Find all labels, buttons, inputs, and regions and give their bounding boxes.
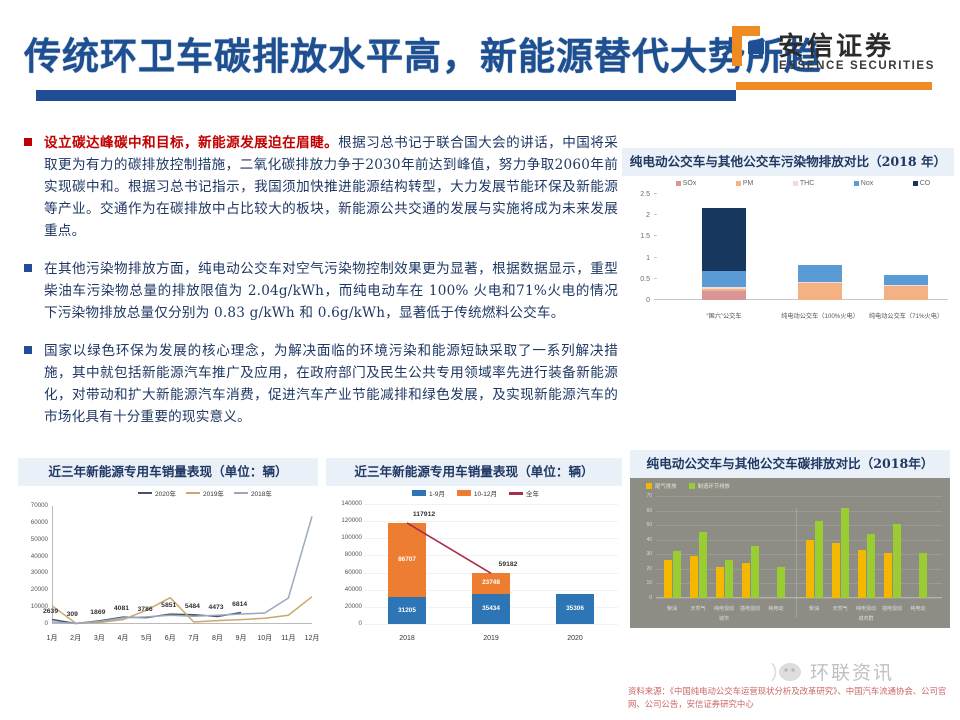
chart-y-tick-label: 30	[636, 551, 652, 557]
chart-y-tick	[654, 278, 657, 279]
chart-plot-area: SOxPMTHCNoxCO00.511.522.5“国六”公交车纯电动公交车（1…	[622, 176, 954, 326]
chart-bar	[884, 275, 928, 300]
chart-legend-item: Nox	[854, 180, 873, 187]
chart-bar-segment	[798, 265, 842, 282]
chart-x-tick-label: 6月	[159, 633, 181, 643]
chart-x-tick-label: 1月	[41, 633, 63, 643]
chart-title: 纯电动公交车与其他公交车污染物排放对比（2018 年）	[622, 148, 954, 176]
watermark-text: 环联资讯	[810, 658, 894, 685]
chart-bar	[664, 560, 672, 598]
chart-x-tick-label: 纯电动	[904, 605, 932, 612]
legend-swatch	[793, 181, 798, 186]
slide-root: 传统环卫车碳排放水平高，新能源替代大势所趋 安信证券 ESSENCE SECUR…	[0, 0, 960, 720]
bullet-paragraph: 在其他污染物排放方面，纯电动公交车对空气污染物控制效果更为显著，根据数据显示，重…	[44, 258, 618, 324]
chart-legend-item: PM	[736, 180, 754, 187]
chart-x-tick-label: 9月	[230, 633, 252, 643]
chart-total-line	[326, 486, 622, 646]
chart-x-tick-label: 天然气	[826, 605, 854, 612]
chart-data-label: 2639	[43, 608, 58, 615]
chart-x-tick-label: 插电混动	[878, 605, 906, 612]
chart-gridline	[656, 511, 942, 512]
bullet-paragraph: 国家以绿色环保为发展的核心理念，为解决面临的环境污染和能源短缺采取了一系列解决措…	[44, 340, 618, 428]
chart-x-tick-label: 7月	[183, 633, 205, 643]
legend-swatch	[854, 181, 859, 186]
chart-lines	[18, 486, 318, 646]
chart-legend-item: 制造环节排放	[689, 482, 730, 490]
slide-header: 传统环卫车碳排放水平高，新能源替代大势所趋 安信证券 ESSENCE SECUR…	[0, 22, 960, 90]
chart-gridline	[656, 496, 942, 497]
chart-y-tick-label: 60	[636, 508, 652, 514]
bullet-marker-icon	[24, 264, 32, 272]
chart-y-tick	[654, 235, 657, 236]
chart-group-label: 城市群	[846, 615, 886, 622]
chart-bar	[893, 524, 901, 598]
chart-legend-item: CO	[913, 180, 931, 187]
chart-data-label: 309	[67, 611, 78, 618]
chart-y-tick	[654, 214, 657, 215]
chart-data-label: 4081	[114, 605, 129, 612]
chart-x-tick-label: 柴油	[800, 605, 828, 612]
legend-label: SOx	[683, 180, 697, 187]
chart-bar-segment	[702, 271, 746, 287]
logo-name-cn: 安信证券	[778, 26, 894, 63]
chart-bar	[858, 550, 866, 598]
brand-logo: 安信证券 ESSENCE SECURITIES	[726, 22, 946, 88]
chart-bar	[806, 540, 814, 598]
legend-swatch	[689, 483, 695, 489]
chart-card-pollutant-comparison: 纯电动公交车与其他公交车污染物排放对比（2018 年） SOxPMTHCNoxC…	[622, 148, 954, 348]
chart-y-tick-label: 1	[628, 255, 650, 262]
chart-bar-segment	[884, 286, 928, 300]
chart-bar	[919, 553, 927, 598]
chart-x-tick-label: 天然气	[684, 605, 712, 612]
chart-y-tick-label: 1.5	[628, 233, 650, 240]
chart-x-tick-label: 11月	[277, 633, 299, 643]
chart-bar	[751, 546, 759, 598]
chart-data-label: 5851	[161, 602, 176, 609]
chart-y-tick-label: 70	[636, 493, 652, 499]
legend-label: 尾气排放	[655, 482, 677, 490]
chart-bar-segment	[702, 208, 746, 272]
chart-group-divider	[796, 508, 797, 618]
chart-y-tick-label: 2.5	[628, 191, 650, 198]
chart-x-tick-label: 3月	[88, 633, 110, 643]
chart-y-tick-label: 50	[636, 522, 652, 528]
chart-bar	[798, 265, 842, 300]
logo-name-en: ESSENCE SECURITIES	[779, 60, 935, 72]
bullet-paragraph: 设立碳达峰碳中和目标，新能源发展迫在眉睫。根据习总书记于联合国大会的讲话，中国将…	[44, 132, 618, 242]
chart-y-tick-label: 10	[636, 580, 652, 586]
chart-bar	[815, 521, 823, 598]
chart-card-carbon-comparison: 纯电动公交车与其他公交车碳排放对比（2018年） 尾气排放制造环节排放01020…	[630, 450, 950, 650]
chart-y-tick-label: 0	[628, 297, 650, 304]
chart-gridline	[656, 598, 942, 599]
chart-x-tick-label: 8月	[206, 633, 228, 643]
chart-total-label: 117912	[394, 511, 454, 518]
chart-bar	[867, 534, 875, 598]
chart-bar	[832, 543, 840, 598]
chart-plot-area: 1-9月10-12月全年0200004000060000800001000001…	[326, 486, 622, 646]
legend-label: THC	[800, 180, 814, 187]
chart-data-label: 1869	[90, 609, 105, 616]
bullet-item: 设立碳达峰碳中和目标，新能源发展迫在眉睫。根据习总书记于联合国大会的讲话，中国将…	[18, 132, 618, 242]
chart-x-tick-label: 纯电动公交车（100%火电）	[772, 311, 868, 320]
chart-card-nev-sales-bar: 近三年新能源专用车销量表现（单位：辆） 1-9月10-12月全年02000040…	[326, 458, 622, 658]
chart-title: 近三年新能源专用车销量表现（单位：辆）	[326, 458, 622, 486]
chart-title: 近三年新能源专用车销量表现（单位：辆）	[18, 458, 318, 486]
chart-bar-segment	[702, 291, 746, 300]
chart-y-tick	[654, 257, 657, 258]
logo-mark-icon	[726, 24, 766, 68]
chart-legend-item: SOx	[676, 180, 697, 187]
chart-y-tick-label: 2	[628, 212, 650, 219]
legend-label: Nox	[861, 180, 873, 187]
chart-x-tick-label: 纯电混动	[710, 605, 738, 612]
chart-x-tick-label: 2月	[65, 633, 87, 643]
chart-legend-item: 尾气排放	[646, 482, 677, 490]
chart-bar	[841, 508, 849, 598]
bullet-body-text: 在其他污染物排放方面，纯电动公交车对空气污染物控制效果更为显著，根据数据显示，重…	[44, 261, 618, 321]
chart-bar	[690, 556, 698, 598]
chart-data-label: 5484	[185, 603, 200, 610]
legend-swatch	[646, 483, 652, 489]
chart-title: 纯电动公交车与其他公交车碳排放对比（2018年）	[630, 450, 950, 478]
legend-swatch	[913, 181, 918, 186]
chart-plot-area: 尾气排放制造环节排放010203040506070柴油天然气纯电混动插电混动纯电…	[630, 478, 950, 628]
header-rule-blue	[36, 90, 736, 101]
chart-y-tick-label: 0.5	[628, 276, 650, 283]
watermark: 环联资讯	[770, 658, 894, 685]
bullet-marker-icon	[24, 346, 32, 354]
bullet-body-text: 国家以绿色环保为发展的核心理念，为解决面临的环境污染和能源短缺采取了一系列解决措…	[44, 343, 618, 425]
chart-data-label: 6814	[232, 601, 247, 608]
source-note: 资料来源：《中国纯电动公交车运营现状分析及改革研究》、中国汽车流通协会、公司官网…	[628, 685, 954, 711]
chart-bar	[725, 560, 733, 598]
bullet-lead-text: 设立碳达峰碳中和目标，新能源发展迫在眉睫。	[44, 135, 338, 151]
chart-bar	[884, 553, 892, 598]
bullet-item: 国家以绿色环保为发展的核心理念，为解决面临的环境污染和能源短缺采取了一系列解决措…	[18, 340, 618, 428]
chart-x-tick-label: 插电混动	[736, 605, 764, 612]
bullet-marker-icon	[24, 138, 32, 146]
chart-y-tick-label: 0	[636, 595, 652, 601]
chart-legend-item: THC	[793, 180, 814, 187]
chart-bar	[699, 532, 707, 598]
chart-y-tick	[654, 193, 657, 194]
chart-bar	[716, 567, 724, 598]
chart-bar-segment	[798, 283, 842, 300]
chart-plot-area: 2020年2019年2018年0100002000030000400005000…	[18, 486, 318, 646]
chart-total-label: 59182	[478, 561, 538, 568]
chart-x-tick-label: 12月	[301, 633, 323, 643]
chart-x-tick-label: 纯电动	[762, 605, 790, 612]
legend-label: CO	[920, 180, 931, 187]
chart-data-label: 4473	[208, 604, 223, 611]
chart-bar	[702, 208, 746, 300]
chart-bar	[673, 551, 681, 598]
chart-bar-segment	[884, 275, 928, 285]
chart-x-tick-label: 4月	[112, 633, 134, 643]
chart-x-tick-label: 纯电动公交车（71%火电）	[858, 311, 954, 320]
chart-y-tick-label: 20	[636, 566, 652, 572]
chart-x-tick-label: 5月	[136, 633, 158, 643]
watermark-logo-icon	[770, 659, 804, 685]
legend-label: PM	[743, 180, 754, 187]
chart-bar	[742, 563, 750, 598]
chart-x-tick-label: “国六”公交车	[676, 311, 772, 320]
chart-group-label: 城市	[704, 615, 744, 622]
body-text-column: 设立碳达峰碳中和目标，新能源发展迫在眉睫。根据习总书记于联合国大会的讲话，中国将…	[18, 132, 618, 444]
bullet-item: 在其他污染物排放方面，纯电动公交车对空气污染物控制效果更为显著，根据数据显示，重…	[18, 258, 618, 324]
chart-y-tick-label: 40	[636, 537, 652, 543]
legend-label: 制造环节排放	[698, 482, 730, 490]
legend-swatch	[736, 181, 741, 186]
chart-data-label: 3786	[138, 606, 153, 613]
legend-swatch	[676, 181, 681, 186]
chart-bar	[777, 567, 785, 598]
chart-card-nev-sales-line: 近三年新能源专用车销量表现（单位：辆） 2020年2019年2018年01000…	[18, 458, 318, 658]
chart-x-tick-label: 10月	[254, 633, 276, 643]
chart-x-tick-label: 柴油	[658, 605, 686, 612]
page-title: 传统环卫车碳排放水平高，新能源替代大势所趋	[24, 26, 822, 80]
chart-x-tick-label: 纯电混动	[852, 605, 880, 612]
